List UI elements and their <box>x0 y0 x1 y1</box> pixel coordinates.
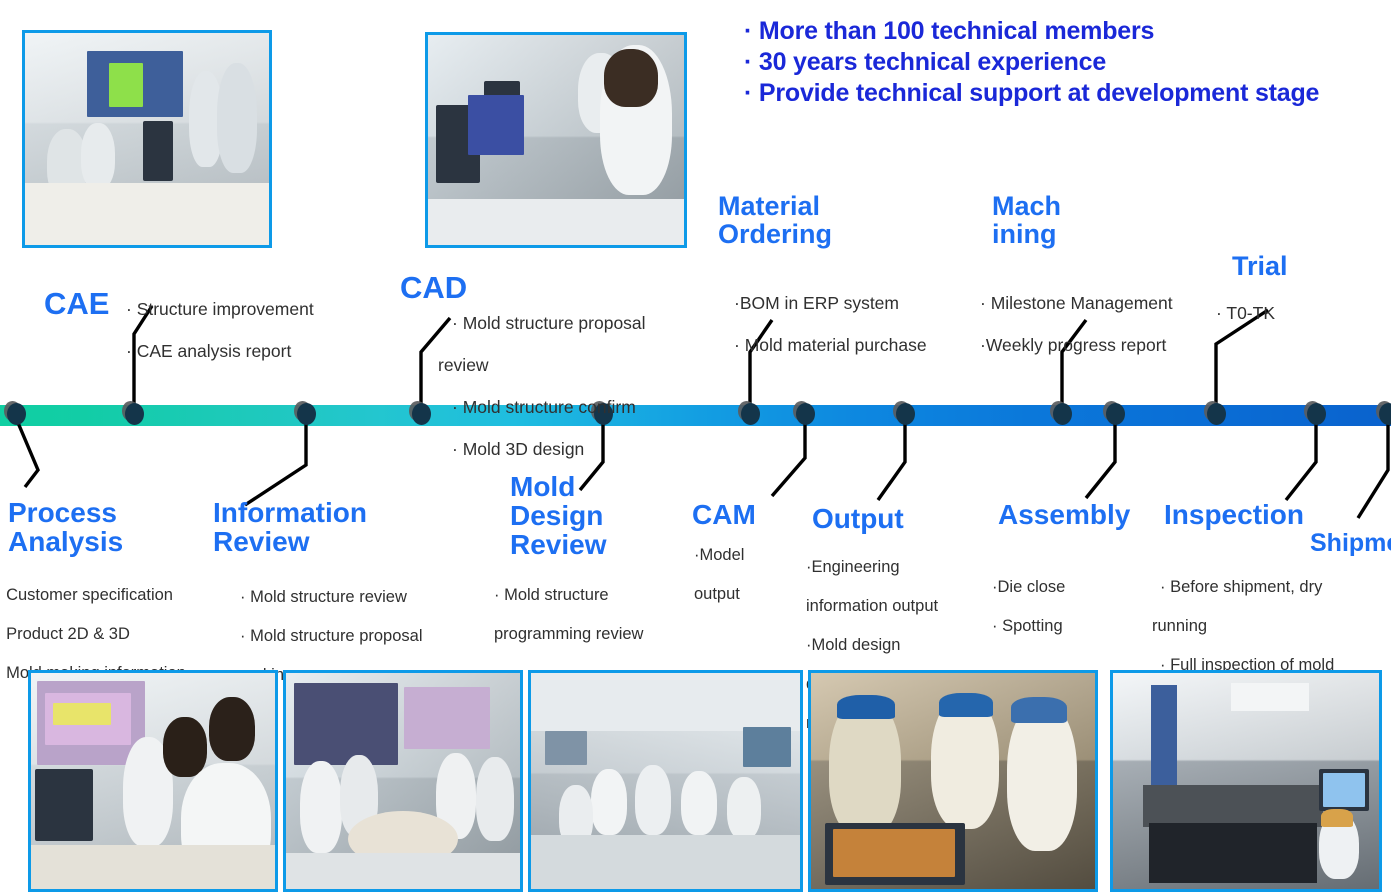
header-bullet-3: · Provide technical support at developme… <box>744 78 1384 109</box>
timeline-node-4[interactable] <box>412 403 431 425</box>
timeline-node-9[interactable] <box>1053 403 1072 425</box>
stage-item: information output <box>806 597 986 617</box>
stage-item: · Product 2D & 3D <box>0 625 226 645</box>
timeline-node-8[interactable] <box>896 403 915 425</box>
stage-item: · Before shipment, dry <box>1160 578 1390 598</box>
stage-items-cam: ·Model output <box>694 526 804 624</box>
stage-item: · Mold structure confirm <box>452 397 702 418</box>
connector-inspection <box>1286 418 1316 500</box>
timeline-node-13[interactable] <box>1379 403 1391 425</box>
stage-item: · Mold structure <box>494 586 724 606</box>
stage-title-machining: Mach ining <box>992 192 1061 248</box>
timeline-node-12[interactable] <box>1307 403 1326 425</box>
stage-item: · Mold structure review <box>240 588 480 608</box>
stage-item: · Mold structure proposal <box>240 627 480 647</box>
stage-title-shipment: Shipme <box>1310 530 1391 556</box>
connector-assembly <box>1086 418 1115 498</box>
connector-process-analysis <box>16 418 38 487</box>
slide-canvas: · More than 100 technical members · 30 y… <box>0 0 1391 895</box>
photo-design-review-room <box>283 670 523 892</box>
photo-cmm-inspection <box>1110 670 1382 892</box>
stage-item: review <box>438 355 702 376</box>
stage-title-process-analysis: Process Analysis <box>8 498 123 556</box>
stage-items-cae: · Structure improvement · CAE analysis r… <box>126 278 376 383</box>
stage-title-assembly: Assembly <box>998 500 1130 529</box>
stage-items-trial: · T0-TK <box>1216 282 1376 345</box>
stage-item: · Mold material purchase <box>734 335 984 356</box>
stage-title-inspection: Inspection <box>1164 500 1304 529</box>
photo-engineering-hall <box>528 670 803 892</box>
stage-item: · CAE analysis report <box>126 341 376 362</box>
stage-items-cad: · Mold structure proposal review · Mold … <box>452 292 702 481</box>
connector-cam <box>772 418 805 496</box>
header-bullets: · More than 100 technical members · 30 y… <box>744 16 1384 109</box>
photo-cae-meeting <box>22 30 272 248</box>
stage-item: · Spotting <box>992 617 1152 637</box>
stage-item: · Mold structure proposal <box>452 313 702 334</box>
photo-cad-office <box>425 32 687 248</box>
stage-title-trial: Trial <box>1232 252 1288 280</box>
timeline-node-7[interactable] <box>796 403 815 425</box>
timeline-node-1[interactable] <box>7 403 26 425</box>
connector-shipment <box>1358 418 1388 518</box>
stage-title-material-ordering: Material Ordering <box>718 192 832 248</box>
stage-title-cae: CAE <box>44 288 109 320</box>
stage-title-cam: CAM <box>692 500 756 529</box>
timeline-node-2[interactable] <box>125 403 144 425</box>
timeline-node-11[interactable] <box>1207 403 1226 425</box>
stage-items-material-ordering: ·BOM in ERP system · Mold material purch… <box>734 272 984 377</box>
stage-item: · Milestone Management <box>980 293 1230 314</box>
connector-information-review <box>245 418 306 505</box>
stage-items-mold-design-review: · Mold structure programming review <box>494 566 724 664</box>
stage-item: · Mold 3D design <box>452 439 702 460</box>
stage-title-information-review: Information Review <box>213 498 367 556</box>
stage-item: output <box>694 585 804 605</box>
stage-items-assembly: ·Die close · Spotting <box>992 558 1152 656</box>
stage-title-output: Output <box>812 504 904 533</box>
stage-item: ·Weekly progress report <box>980 335 1230 356</box>
stage-item: ·BOM in ERP system <box>734 293 984 314</box>
photo-shopfloor-assembly <box>808 670 1098 892</box>
stage-item: ·Engineering <box>806 558 986 578</box>
stage-item: programming review <box>494 625 724 645</box>
timeline-node-10[interactable] <box>1106 403 1125 425</box>
stage-item: running <box>1152 617 1390 637</box>
photo-design-discussion <box>28 670 278 892</box>
header-bullet-1: · More than 100 technical members <box>744 16 1384 47</box>
stage-item: ·Die close <box>992 578 1152 598</box>
stage-item: · T0-TK <box>1216 303 1376 324</box>
stage-item: ·Mold design <box>806 636 986 656</box>
stage-item: · Customer specification <box>0 586 226 606</box>
stage-title-mold-design-review: Mold Design Review <box>510 472 607 559</box>
timeline-node-3[interactable] <box>297 403 316 425</box>
timeline-node-6[interactable] <box>741 403 760 425</box>
header-bullet-2: · 30 years technical experience <box>744 47 1384 78</box>
stage-item: ·Model <box>694 546 804 566</box>
stage-item: · Structure improvement <box>126 299 376 320</box>
connector-output <box>878 418 905 500</box>
stage-items-machining: · Milestone Management ·Weekly progress … <box>980 272 1230 377</box>
